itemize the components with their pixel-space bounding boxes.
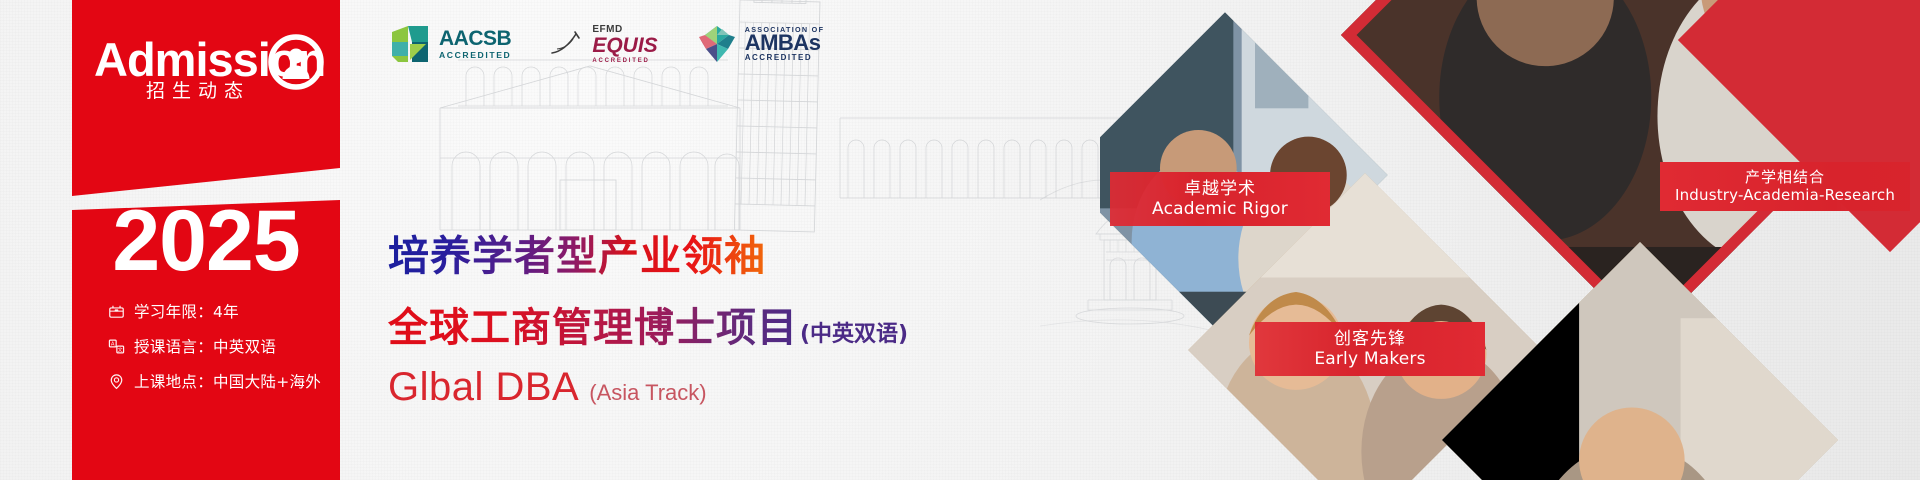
equis-label: EQUIS [592,35,657,56]
program-cn-suffix: (中英双语) [800,316,908,348]
aacsb-sub-label: ACCREDITED [439,51,511,60]
program-en-text: Glbal DBA [388,365,579,410]
info-row-language: A 文 授课语言：中英双语 [108,335,358,357]
year-label: 2025 [72,198,340,284]
program-cn-text: 全球工商管理博士项目 [388,295,798,353]
left-red-panel: Admission 招生动态 2025 学习年限：4年 [72,0,340,480]
program-en-suffix: (Asia Track) [589,380,706,406]
accreditation-amba: ASSOCIATION OF AMBAs ACCREDITED [696,23,825,65]
calendar-icon [108,303,125,320]
headline-block: 培养学者型产业领袖 全球工商管理博士项目 (中英双语) Glbal DBA (A… [388,222,908,410]
label-makers-cn: 创客先锋 [1269,329,1471,349]
tagline-text: 培养学者型产业领袖 [388,222,908,282]
info-label-language: 授课语言：中英双语 [134,335,276,357]
efmd-label: EFMD [592,25,657,35]
program-info-list: 学习年限：4年 A 文 授课语言：中英双语 上课地点：中国大陆+海外 [108,300,358,405]
equis-sub-label: ACCREDITED [592,58,657,64]
feature-photo-mosaic: 产学相结合 Industry-Academia-Research [1100,0,1920,480]
label-industry-cn: 产学相结合 [1674,169,1896,187]
person-circle-icon [268,34,324,90]
svg-text:A: A [111,341,115,347]
label-industry-en: Industry-Academia-Research [1674,187,1896,204]
label-academic-en: Academic Rigor [1124,199,1316,219]
label-industry: 产学相结合 Industry-Academia-Research [1660,162,1910,211]
location-pin-icon [108,373,125,390]
admission-banner: Admission 招生动态 2025 学习年限：4年 [0,0,1920,480]
info-label-duration: 学习年限：4年 [134,300,239,322]
aacsb-logo-icon [388,22,432,66]
accreditation-aacsb: AACSB ACCREDITED [388,22,511,66]
amba-sub-label: ACCREDITED [745,54,825,62]
info-label-location: 上课地点：中国大陆+海外 [134,370,321,392]
center-content: AACSB ACCREDITED EFMD EQUIS ACCREDITED [340,0,1160,480]
program-cn-line: 全球工商管理博士项目 (中英双语) [388,295,908,353]
label-makers-en: Early Makers [1269,349,1471,369]
info-row-location: 上课地点：中国大陆+海外 [108,370,358,392]
accreditation-equis: EFMD EQUIS ACCREDITED [549,25,657,64]
label-makers: 创客先锋 Early Makers [1255,322,1485,376]
accreditation-logos: AACSB ACCREDITED EFMD EQUIS ACCREDITED [388,22,824,66]
language-icon: A 文 [108,338,125,355]
admission-logo: Admission 招生动态 [72,28,340,124]
program-en-line: Glbal DBA (Asia Track) [388,365,908,410]
amba-diamond-icon [696,23,738,65]
svg-text:文: 文 [118,346,123,353]
logo-chinese-text: 招生动态 [146,76,250,103]
info-row-duration: 学习年限：4年 [108,300,358,322]
label-academic-cn: 卓越学术 [1124,179,1316,199]
amba-label: AMBAs [745,33,825,53]
aacsb-label: AACSB [439,28,511,49]
equis-swoosh-icon [549,29,585,59]
label-academic: 卓越学术 Academic Rigor [1110,172,1330,226]
